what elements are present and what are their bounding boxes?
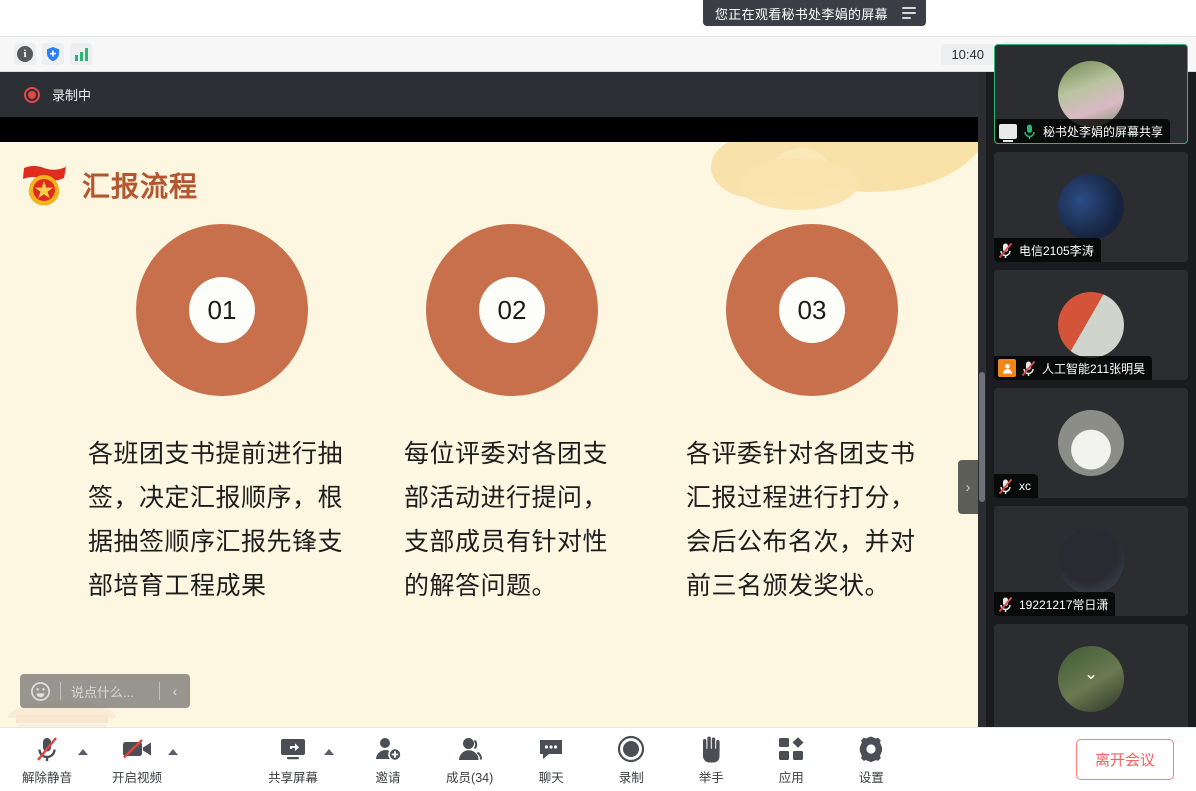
raise-hand-button[interactable]: 举手	[689, 733, 733, 786]
mic-muted-icon	[998, 478, 1014, 495]
invite-button[interactable]: 邀请	[366, 733, 410, 786]
hamburger-menu-icon[interactable]	[898, 3, 920, 23]
raise-hand-icon	[698, 733, 724, 763]
record-label: 录制	[619, 767, 644, 786]
share-screen-icon	[278, 733, 308, 763]
participant-name: xc	[1019, 479, 1031, 493]
slide-title: 汇报流程	[82, 165, 198, 205]
participant-tile-sharing[interactable]: 秘书处李娟的屏幕共享	[994, 44, 1188, 144]
participant-namebar: 19221217常日潇	[994, 592, 1115, 616]
participant-tile[interactable]: 电信2105李涛	[994, 152, 1188, 262]
settings-button[interactable]: 设置	[849, 733, 893, 786]
participant-namebar: xc	[994, 474, 1038, 498]
recording-bar: 录制中	[0, 72, 978, 117]
record-button[interactable]: 录制	[609, 733, 653, 786]
mic-on-icon	[1022, 123, 1038, 140]
audio-options-chevron-icon[interactable]	[78, 749, 88, 755]
shield-plus-icon[interactable]	[42, 43, 64, 65]
slide-title-group: 汇报流程	[20, 162, 198, 208]
participant-name: 人工智能211张明昊	[1042, 360, 1145, 377]
unmute-button[interactable]: 解除静音	[22, 733, 72, 786]
chat-input-placeholder[interactable]: 说点什么...	[61, 682, 159, 701]
apps-icon	[777, 733, 805, 763]
floating-chat-input[interactable]: 说点什么... ‹	[20, 674, 190, 708]
participant-tile-partial[interactable]: ⌄	[994, 624, 1188, 734]
meeting-clock: 10:40	[941, 44, 994, 65]
participant-namebar: 电信2105李涛	[994, 238, 1101, 262]
chat-bubble-icon	[537, 733, 565, 763]
step-text: 每位评委对各团支部活动进行提问，支部成员有针对性的解答问题。	[404, 432, 620, 608]
gear-icon	[857, 733, 885, 763]
participant-rail: 秘书处李娟的屏幕共享 电信2105李涛 人工智能211张明昊	[986, 72, 1196, 727]
avatar	[1058, 61, 1124, 127]
avatar	[1058, 174, 1124, 240]
slide-step-1: 01 各班团支书提前进行抽签，决定汇报顺序，根据抽签顺序汇报先锋支部培育工程成果	[86, 224, 358, 608]
unmute-label: 解除静音	[22, 767, 72, 786]
participant-tile[interactable]: xc	[994, 388, 1188, 498]
control-left-group: 解除静音 开启视频	[0, 733, 180, 786]
step-circle: 03	[726, 224, 898, 396]
chat-label: 聊天	[539, 767, 564, 786]
panel-collapse-handle[interactable]: ›	[958, 460, 978, 514]
participants-label: 成员(34)	[446, 767, 493, 786]
video-options-chevron-icon[interactable]	[168, 749, 178, 755]
participant-name: 19221217常日潇	[1019, 596, 1108, 613]
step-text: 各班团支书提前进行抽签，决定汇报顺序，根据抽签顺序汇报先锋支部培育工程成果	[88, 432, 356, 608]
raise-hand-label: 举手	[699, 767, 724, 786]
camera-muted-icon	[121, 733, 153, 763]
record-icon	[617, 733, 645, 763]
apps-label: 应用	[779, 767, 804, 786]
control-mid-group: 共享屏幕 邀请 成员(34) 聊天	[268, 733, 893, 786]
participant-name: 电信2105李涛	[1019, 242, 1094, 259]
slide-step-3: 03 各评委针对各团支书汇报过程进行打分，会后公布名次，并对前三名颁发奖状。	[676, 224, 948, 608]
smiley-icon[interactable]	[20, 682, 60, 701]
watching-screen-banner: 您正在观看秘书处李娟的屏幕	[703, 0, 926, 26]
step-text: 各评委针对各团支书汇报过程进行打分，会后公布名次，并对前三名颁发奖状。	[686, 432, 938, 608]
participant-namebar: 秘书处李娟的屏幕共享	[995, 119, 1170, 143]
record-dot-icon	[24, 87, 40, 103]
step-number: 03	[779, 277, 845, 343]
avatar	[1058, 528, 1124, 594]
start-video-button[interactable]: 开启视频	[112, 733, 162, 786]
mic-muted-icon	[998, 242, 1014, 259]
chat-button[interactable]: 聊天	[529, 733, 573, 786]
share-screen-label: 共享屏幕	[268, 767, 318, 786]
scroll-down-chevron-icon[interactable]: ⌄	[1084, 664, 1098, 684]
cloud-decoration-2	[738, 158, 858, 210]
participant-namebar: 人工智能211张明昊	[994, 356, 1152, 380]
start-video-label: 开启视频	[112, 767, 162, 786]
share-screen-button[interactable]: 共享屏幕	[268, 733, 318, 786]
screen-share-icon	[999, 124, 1017, 139]
shared-screen-scrollbar[interactable]	[978, 72, 986, 727]
info-glyph: i	[17, 46, 33, 62]
slide-columns: 01 各班团支书提前进行抽签，决定汇报顺序，根据抽签顺序汇报先锋支部培育工程成果…	[0, 224, 978, 608]
invite-label: 邀请	[376, 767, 401, 786]
mic-muted-icon	[1021, 360, 1037, 377]
step-circle: 01	[136, 224, 308, 396]
mic-muted-icon	[34, 733, 60, 763]
watching-screen-text: 您正在观看秘书处李娟的屏幕	[715, 4, 888, 23]
step-number: 01	[189, 277, 255, 343]
info-icon[interactable]: i	[14, 43, 36, 65]
rail-scrollbar[interactable]	[1191, 72, 1196, 727]
shared-screen-area: 录制中	[0, 72, 978, 727]
slide-step-2: 02 每位评委对各团支部活动进行提问，支部成员有针对性的解答问题。	[376, 224, 648, 608]
youth-league-emblem-icon	[20, 162, 70, 208]
meeting-window: 您正在观看秘书处李娟的屏幕 i 10:40 演讲者视图	[0, 0, 1196, 791]
share-options-chevron-icon[interactable]	[324, 749, 334, 755]
settings-label: 设置	[859, 767, 884, 786]
host-badge-icon	[998, 359, 1016, 377]
invite-person-icon	[374, 733, 402, 763]
step-circle: 02	[426, 224, 598, 396]
presentation-slide: 汇报流程 01 各班团支书提前进行抽签，决定汇报顺序，根据抽签顺序汇报先锋支部培…	[0, 142, 978, 755]
avatar	[1058, 410, 1124, 476]
top-strip: 您正在观看秘书处李娟的屏幕	[0, 0, 1196, 36]
meeting-control-bar: 解除静音 开启视频 共享屏幕	[0, 727, 1196, 791]
recording-label: 录制中	[52, 85, 91, 104]
shield-glyph	[45, 46, 61, 62]
signal-glyph	[75, 48, 88, 61]
participants-icon	[456, 733, 484, 763]
leave-meeting-button[interactable]: 离开会议	[1076, 739, 1174, 780]
participant-tile[interactable]: 19221217常日潇	[994, 506, 1188, 616]
participants-button[interactable]: 成员(34)	[446, 733, 493, 786]
participant-name: 秘书处李娟的屏幕共享	[1043, 123, 1163, 140]
signal-bars-icon[interactable]	[70, 43, 92, 65]
avatar	[1058, 292, 1124, 358]
mic-muted-icon	[998, 596, 1014, 613]
participant-tile[interactable]: 人工智能211张明昊	[994, 270, 1188, 380]
toolbar-left-group: i	[0, 43, 92, 65]
apps-button[interactable]: 应用	[769, 733, 813, 786]
step-number: 02	[479, 277, 545, 343]
chat-collapse-icon[interactable]: ‹	[160, 683, 190, 699]
